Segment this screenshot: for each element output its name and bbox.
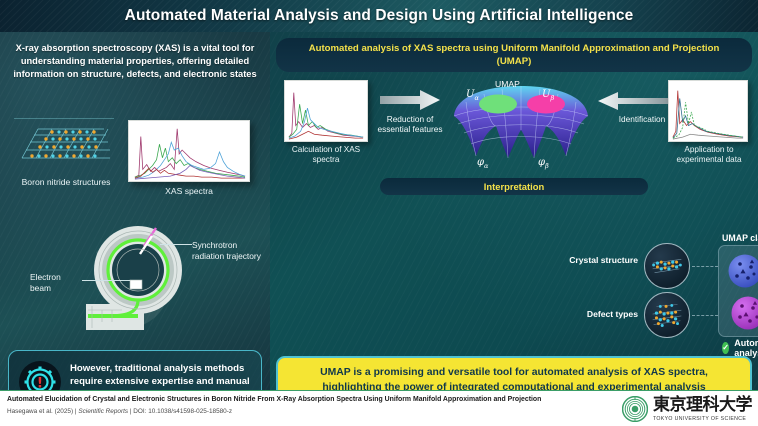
page-title: Automated Material Analysis and Design U… xyxy=(125,7,634,25)
crystal-structure-label: Crystal structure xyxy=(564,255,638,266)
conclusion-box: UMAP is a promising and versatile tool f… xyxy=(276,356,752,390)
phi-alpha-label: φα xyxy=(477,157,488,170)
gear-warning-icon: ! xyxy=(18,360,62,390)
cluster-purple-icon xyxy=(731,296,758,330)
u-beta-label: Uβ xyxy=(542,89,554,102)
check-icon: ✓ xyxy=(722,342,729,354)
experimental-spectra-caption: Application to experimental data xyxy=(664,145,754,166)
automated-analysis-row: ✓ Automated analysis xyxy=(722,338,758,358)
left-panel-texture xyxy=(0,32,270,390)
interpretation-banner: Interpretation xyxy=(380,178,648,195)
logo-japanese-name: 東京理科大学 xyxy=(653,397,752,414)
defect-types-label: Defect types xyxy=(564,309,638,320)
experimental-spectra-card xyxy=(668,80,748,142)
defect-to-box-connector xyxy=(692,315,718,316)
automated-analysis-label: Automated analysis xyxy=(734,338,758,358)
citation-journal: Scientific Reports xyxy=(78,408,128,415)
conclusion-text: UMAP is a promising and versatile tool f… xyxy=(290,366,738,390)
citation-doi: DOI: 10.1038/s41598-025-18580-z xyxy=(133,408,232,415)
defect-types-icon xyxy=(644,292,690,338)
u-alpha-label: Uα xyxy=(466,89,479,102)
citation-sep-2: | xyxy=(130,408,132,415)
xas-spectra-caption: XAS spectra xyxy=(128,186,250,196)
limitation-note-box: ! However, traditional analysis methods … xyxy=(8,350,262,390)
synchrotron-illustration xyxy=(78,222,198,334)
tus-seal-icon xyxy=(622,396,648,422)
crystal-structure-icon xyxy=(644,243,690,289)
limitation-note-text: However, traditional analysis methods re… xyxy=(70,362,252,390)
interpretation-banner-text: Interpretation xyxy=(484,181,544,192)
footer: Automated Elucidation of Crystal and Ele… xyxy=(0,390,758,426)
logo-english-name: TOKYO UNIVERSITY OF SCIENCE xyxy=(653,416,752,422)
xas-spectra-card xyxy=(128,120,250,182)
umap-classification-title: UMAP classification xyxy=(674,233,758,243)
synchrotron-trajectory-label: Synchrotron radiation trajectory xyxy=(192,240,266,261)
left-panel: X-ray absorption spectroscopy (XAS) is a… xyxy=(0,32,270,390)
synchrotron-leader-line xyxy=(160,244,192,245)
umap-label: UMAP xyxy=(495,79,520,89)
crystal-to-box-connector xyxy=(692,266,718,267)
electron-beam-leader-line xyxy=(82,280,130,281)
reduction-caption: Reduction of essential features xyxy=(376,114,444,135)
electron-beam-label: Electron beam xyxy=(30,272,82,293)
university-logo: 東京理科大学 TOKYO UNIVERSITY OF SCIENCE xyxy=(622,395,752,423)
calculated-spectra-caption: Calculation of XAS spectra xyxy=(280,145,372,166)
infographic-root: Automated Material Analysis and Design U… xyxy=(0,0,758,426)
workflow-banner-text: Automated analysis of XAS spectra using … xyxy=(294,42,734,69)
workflow-banner: Automated analysis of XAS spectra using … xyxy=(276,38,752,72)
svg-text:!: ! xyxy=(37,376,43,391)
paper-title: Automated Elucidation of Crystal and Ele… xyxy=(7,396,587,403)
reduction-arrow-icon xyxy=(380,90,440,110)
right-panel: Automated analysis of XAS spectra using … xyxy=(270,32,758,390)
phi-beta-label: φβ xyxy=(538,157,549,170)
page-title-bar: Automated Material Analysis and Design U… xyxy=(0,0,758,32)
boron-nitride-label: Boron nitride structures xyxy=(14,177,118,188)
citation-sep-1: | xyxy=(75,408,77,415)
intro-paragraph: X-ray absorption spectroscopy (XAS) is a… xyxy=(10,42,260,82)
citation-authors: Hasegawa et al. (2025) xyxy=(7,408,73,415)
cluster-blue-icon xyxy=(728,254,758,288)
calculated-spectra-card xyxy=(284,80,368,142)
citation-line: Hasegawa et al. (2025) | Scientific Repo… xyxy=(7,408,427,415)
